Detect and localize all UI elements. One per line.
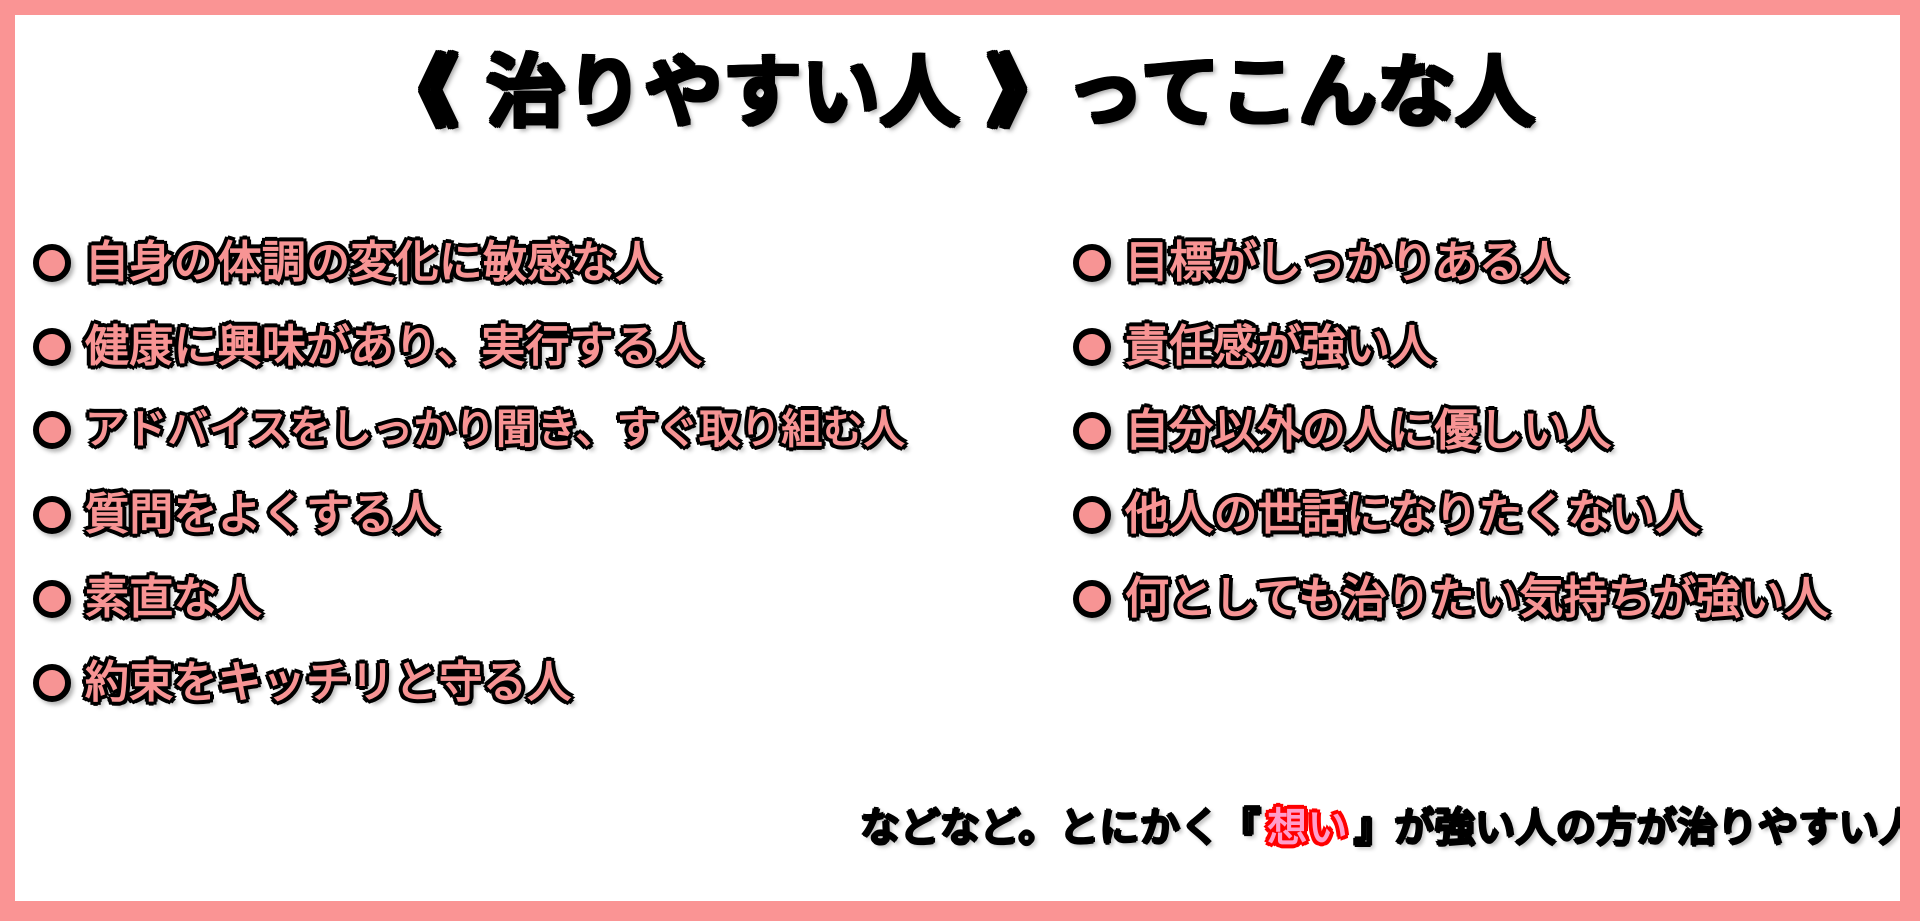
list-item: アドバイスをしっかり聞き、すぐ取り組む人 <box>33 409 905 450</box>
list-item-label: 自分以外の人に優しい人 <box>1125 409 1611 453</box>
filled-circle-bullet-icon <box>33 411 71 449</box>
list-item-label: 他人の世話になりたくない人 <box>1125 493 1700 537</box>
poster-frame: 《 治りやすい人 》ってこんな人 自身の体調の変化に敏感な人 健康に興味があり、… <box>0 0 1920 921</box>
filled-circle-bullet-icon <box>1073 580 1111 618</box>
filled-circle-bullet-icon <box>1073 328 1111 366</box>
filled-circle-bullet-icon <box>33 244 71 282</box>
footer-suffix: 』が強い人の方が治りやすい人!! <box>1354 805 1900 851</box>
list-item: 素直な人 <box>33 577 262 621</box>
list-item-label: 健康に興味があり、実行する人 <box>85 325 702 369</box>
list-item-label: 何としても治りたい気持ちが強い人 <box>1125 577 1829 621</box>
filled-circle-bullet-icon <box>1073 244 1111 282</box>
footer-note: などなど。とにかく『想い』が強い人の方が治りやすい人!! <box>860 808 1900 848</box>
filled-circle-bullet-icon <box>33 580 71 618</box>
list-item-label: 責任感が強い人 <box>1125 325 1435 369</box>
list-item-label: 約束をキッチリと守る人 <box>85 661 571 705</box>
list-item: 自身の体調の変化に敏感な人 <box>33 241 660 285</box>
list-item: 何としても治りたい気持ちが強い人 <box>1073 577 1829 621</box>
list-item: 他人の世話になりたくない人 <box>1073 493 1700 537</box>
footer-highlight: 想い <box>1267 805 1348 851</box>
list-item-label: 素直な人 <box>85 577 262 621</box>
page-title-row: 《 治りやすい人 》ってこんな人 <box>15 53 1900 135</box>
filled-circle-bullet-icon <box>1073 412 1111 450</box>
filled-circle-bullet-icon <box>33 328 71 366</box>
list-item-label: 目標がしっかりある人 <box>1125 241 1567 285</box>
list-item: 質問をよくする人 <box>33 493 439 537</box>
list-item: 約束をキッチリと守る人 <box>33 661 571 705</box>
list-item-label: 自身の体調の変化に敏感な人 <box>85 241 660 285</box>
filled-circle-bullet-icon <box>33 664 71 702</box>
filled-circle-bullet-icon <box>1073 496 1111 534</box>
list-item: 自分以外の人に優しい人 <box>1073 409 1611 453</box>
list-item-label: アドバイスをしっかり聞き、すぐ取り組む人 <box>85 409 905 450</box>
footer-prefix: などなど。とにかく『 <box>860 805 1261 851</box>
page-title: 《 治りやすい人 》ってこんな人 <box>380 53 1535 135</box>
list-item: 責任感が強い人 <box>1073 325 1435 369</box>
poster-canvas: 《 治りやすい人 》ってこんな人 自身の体調の変化に敏感な人 健康に興味があり、… <box>15 15 1900 901</box>
list-item-label: 質問をよくする人 <box>85 493 439 537</box>
list-item: 目標がしっかりある人 <box>1073 241 1567 285</box>
list-item: 健康に興味があり、実行する人 <box>33 325 702 369</box>
filled-circle-bullet-icon <box>33 496 71 534</box>
